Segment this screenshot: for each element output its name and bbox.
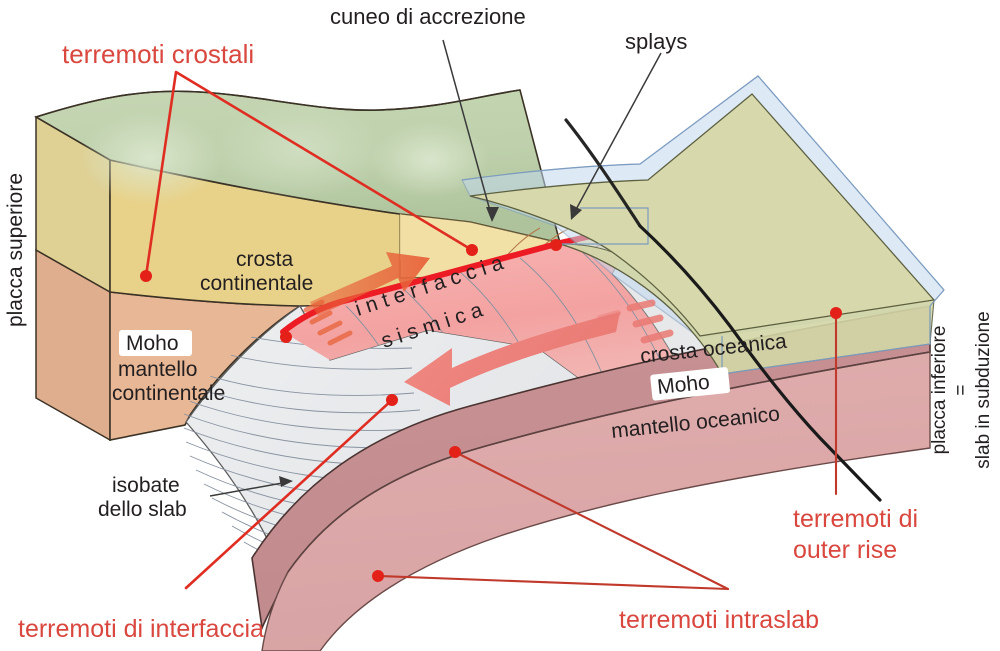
hill-shade-2 [215, 100, 385, 200]
label-lower-plate-equals: = [951, 384, 972, 395]
label-interface-earthquakes: terremoti di interfaccia [18, 615, 264, 643]
label-lower-plate-line3: slab in subduzione [973, 311, 994, 468]
label-continental-crust-line2: continentale [200, 272, 313, 295]
subduction-zone-diagram: placca superiore placca inferiore = slab… [0, 0, 1000, 651]
label-continental-mantle-line1: mantello [118, 358, 197, 381]
label-isobaths-line2: dello slab [98, 498, 187, 521]
hypocenter-outer-rise [830, 307, 842, 319]
label-upper-plate: placca superiore [4, 173, 27, 327]
label-lower-plate-line1: placca inferiore [929, 326, 950, 455]
hypocenter-interface-2 [280, 331, 292, 343]
label-moho-upper: Moho [126, 332, 179, 355]
label-crustal-earthquakes: terremoti crostali [62, 39, 254, 69]
label-outer-rise-line1: terremoti di [793, 505, 918, 533]
label-continental-crust-line1: crosta [236, 248, 294, 271]
hypocenter-interface-3 [550, 239, 562, 251]
hypocenter-intraslab-2 [372, 570, 384, 582]
hypocenter-crustal-2 [466, 244, 478, 256]
hill-shade-1 [78, 112, 222, 204]
label-splays: splays [625, 29, 687, 54]
hypocenter-crustal-1 [140, 270, 152, 282]
hypocenter-interface-1 [386, 394, 398, 406]
label-isobaths-line1: isobate [112, 474, 180, 497]
label-intraslab-earthquakes: terremoti intraslab [619, 606, 819, 634]
moho-upper-badge: Moho [119, 330, 192, 356]
label-continental-mantle-line2: continentale [112, 382, 225, 405]
diagram-canvas: placca superiore placca inferiore = slab… [0, 0, 1000, 651]
label-accretionary-wedge: cuneo di accrezione [330, 4, 526, 29]
intraslab-eq-leader-2 [378, 576, 728, 589]
hypocenter-intraslab-1 [449, 446, 461, 458]
label-outer-rise-line2: outer rise [793, 536, 897, 564]
